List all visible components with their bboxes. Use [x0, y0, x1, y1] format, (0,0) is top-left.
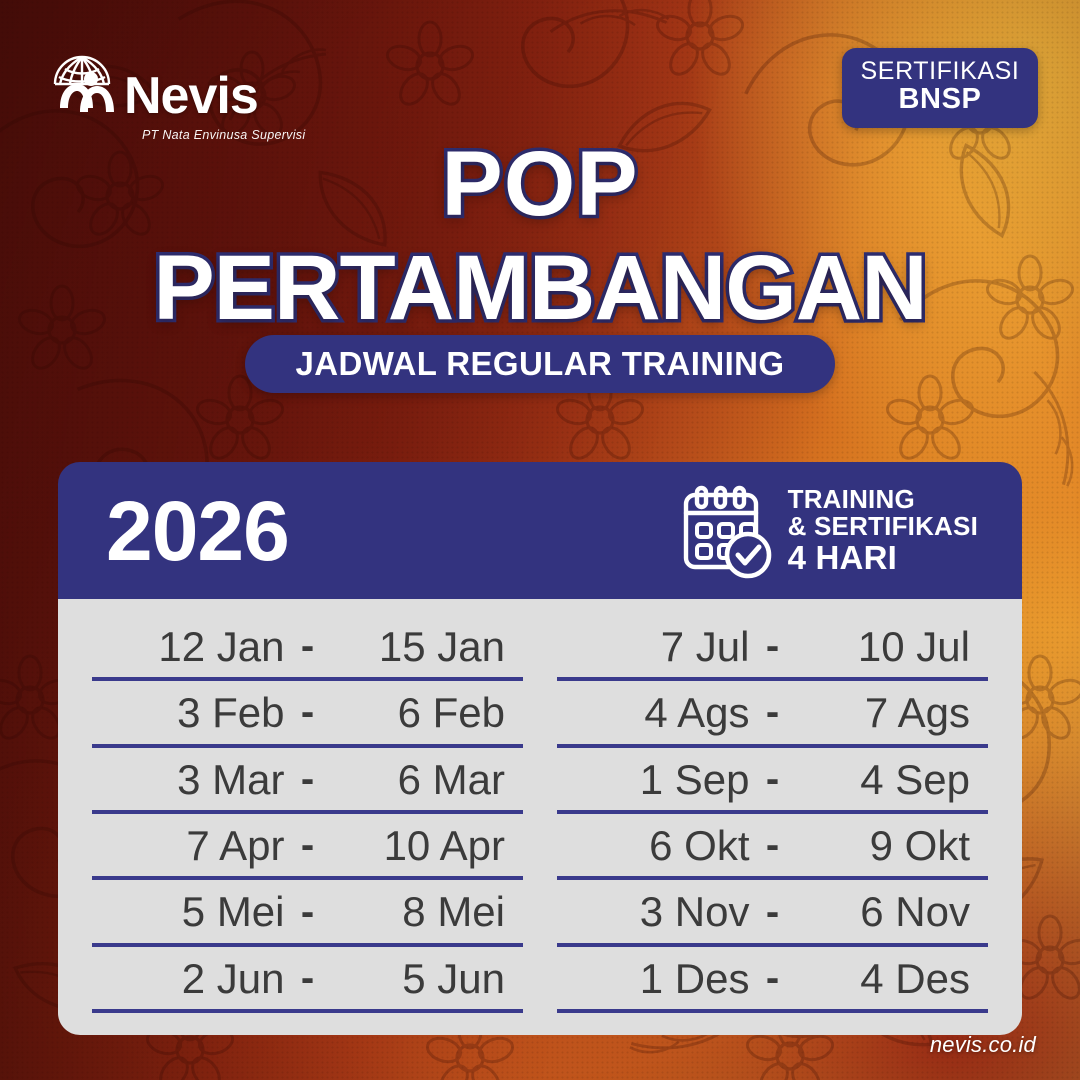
schedule-table: 12 Jan - 15 Jan 3 Feb - 6 Feb 3 Mar - 6 … [58, 599, 1022, 1035]
duration-text-block: TRAINING & SERTIFIKASI 4 HARI [788, 486, 978, 576]
separator-text: - [301, 757, 314, 801]
row-end-date: 5 Jun [331, 956, 518, 1001]
certification-body: BNSP [842, 84, 1038, 115]
separator-text: - [766, 624, 779, 668]
year-label: 2026 [106, 489, 289, 573]
table-row: 7 Jul - 10 Jul [557, 615, 988, 681]
separator-text: - [301, 823, 314, 867]
end-date-text: 15 Jan [379, 623, 505, 670]
start-date-text: 1 Sep [640, 756, 750, 803]
certification-label: SERTIFIKASI [842, 58, 1038, 84]
table-row: 5 Mei - 8 Mei [92, 880, 523, 946]
end-date-text: 6 Mar [398, 756, 505, 803]
start-date-text: 2 Jun [182, 955, 285, 1002]
row-separator: - [750, 625, 796, 668]
row-end-date: 7 Ags [796, 690, 983, 735]
brand-name: Nevis [124, 70, 258, 122]
row-start-date: 1 Sep [563, 757, 750, 802]
end-date-text: 6 Feb [398, 689, 505, 736]
duration-line-2: & SERTIFIKASI [788, 513, 978, 540]
row-separator: - [285, 891, 331, 934]
row-end-date: 10 Jul [796, 624, 983, 669]
row-end-date: 6 Nov [796, 889, 983, 934]
end-date-text: 10 Apr [384, 822, 505, 869]
table-row: 3 Mar - 6 Mar [92, 748, 523, 814]
table-row: 7 Apr - 10 Apr [92, 814, 523, 880]
end-date-text: 5 Jun [402, 955, 505, 1002]
row-start-date: 3 Feb [98, 690, 285, 735]
title-line-1: POP [0, 138, 1080, 230]
end-date-text: 10 Jul [858, 623, 970, 670]
table-row: 6 Okt - 9 Okt [557, 814, 988, 880]
subtitle-pill: JADWAL REGULAR TRAINING [245, 335, 835, 393]
row-separator: - [285, 824, 331, 867]
duration-line-3: 4 HARI [788, 541, 978, 575]
separator-text: - [766, 757, 779, 801]
separator-text: - [301, 690, 314, 734]
row-separator: - [285, 957, 331, 1000]
row-start-date: 6 Okt [563, 823, 750, 868]
schedule-card: 2026 [58, 462, 1022, 1035]
brand-logo: Nevis PT Nata Envinusa Supervisi [46, 36, 296, 126]
row-separator: - [285, 758, 331, 801]
row-start-date: 3 Nov [563, 889, 750, 934]
start-date-text: 7 Apr [186, 822, 284, 869]
duration-badge: TRAINING & SERTIFIKASI 4 HARI [680, 481, 978, 581]
row-separator: - [750, 957, 796, 1000]
separator-text: - [766, 890, 779, 934]
row-start-date: 7 Apr [98, 823, 285, 868]
row-separator: - [750, 824, 796, 867]
end-date-text: 8 Mei [402, 888, 505, 935]
row-start-date: 3 Mar [98, 757, 285, 802]
row-end-date: 4 Des [796, 956, 983, 1001]
start-date-text: 3 Mar [177, 756, 284, 803]
title-line-2: PERTAMBANGAN [0, 242, 1080, 334]
start-date-text: 4 Ags [644, 689, 749, 736]
table-row: 4 Ags - 7 Ags [557, 681, 988, 747]
table-row: 2 Jun - 5 Jun [92, 947, 523, 1013]
start-date-text: 3 Nov [640, 888, 750, 935]
row-end-date: 15 Jan [331, 624, 518, 669]
calendar-check-icon [680, 481, 772, 581]
row-separator: - [750, 691, 796, 734]
separator-text: - [301, 956, 314, 1000]
start-date-text: 1 Des [640, 955, 750, 1002]
separator-text: - [301, 624, 314, 668]
table-row: 3 Feb - 6 Feb [92, 681, 523, 747]
nevis-globe-figure-icon [46, 36, 118, 112]
row-end-date: 6 Feb [331, 690, 518, 735]
row-end-date: 6 Mar [331, 757, 518, 802]
table-row: 3 Nov - 6 Nov [557, 880, 988, 946]
row-separator: - [750, 891, 796, 934]
row-start-date: 2 Jun [98, 956, 285, 1001]
subtitle-text: JADWAL REGULAR TRAINING [296, 345, 785, 383]
row-end-date: 4 Sep [796, 757, 983, 802]
row-end-date: 8 Mei [331, 889, 518, 934]
end-date-text: 9 Okt [870, 822, 970, 869]
schedule-column-left: 12 Jan - 15 Jan 3 Feb - 6 Feb 3 Mar - 6 … [92, 615, 523, 1013]
row-start-date: 4 Ags [563, 690, 750, 735]
row-start-date: 5 Mei [98, 889, 285, 934]
certification-badge: SERTIFIKASI BNSP [842, 48, 1038, 128]
separator-text: - [766, 823, 779, 867]
start-date-text: 3 Feb [177, 689, 284, 736]
row-separator: - [285, 625, 331, 668]
row-separator: - [750, 758, 796, 801]
start-date-text: 7 Jul [661, 623, 750, 670]
table-row: 12 Jan - 15 Jan [92, 615, 523, 681]
separator-text: - [766, 956, 779, 1000]
table-row: 1 Sep - 4 Sep [557, 748, 988, 814]
row-end-date: 9 Okt [796, 823, 983, 868]
end-date-text: 7 Ags [865, 689, 970, 736]
separator-text: - [301, 890, 314, 934]
end-date-text: 6 Nov [860, 888, 970, 935]
start-date-text: 12 Jan [158, 623, 284, 670]
page-title: POP PERTAMBANGAN [0, 138, 1080, 334]
schedule-column-right: 7 Jul - 10 Jul 4 Ags - 7 Ags 1 Sep - 4 S… [557, 615, 988, 1013]
separator-text: - [766, 690, 779, 734]
end-date-text: 4 Sep [860, 756, 970, 803]
table-row: 1 Des - 4 Des [557, 947, 988, 1013]
row-start-date: 1 Des [563, 956, 750, 1001]
row-end-date: 10 Apr [331, 823, 518, 868]
website-footer: nevis.co.id [930, 1032, 1036, 1058]
row-separator: - [285, 691, 331, 734]
start-date-text: 5 Mei [182, 888, 285, 935]
row-start-date: 7 Jul [563, 624, 750, 669]
end-date-text: 4 Des [860, 955, 970, 1002]
duration-line-1: TRAINING [788, 486, 978, 513]
start-date-text: 6 Okt [649, 822, 749, 869]
row-start-date: 12 Jan [98, 624, 285, 669]
schedule-card-header: 2026 [58, 462, 1022, 599]
